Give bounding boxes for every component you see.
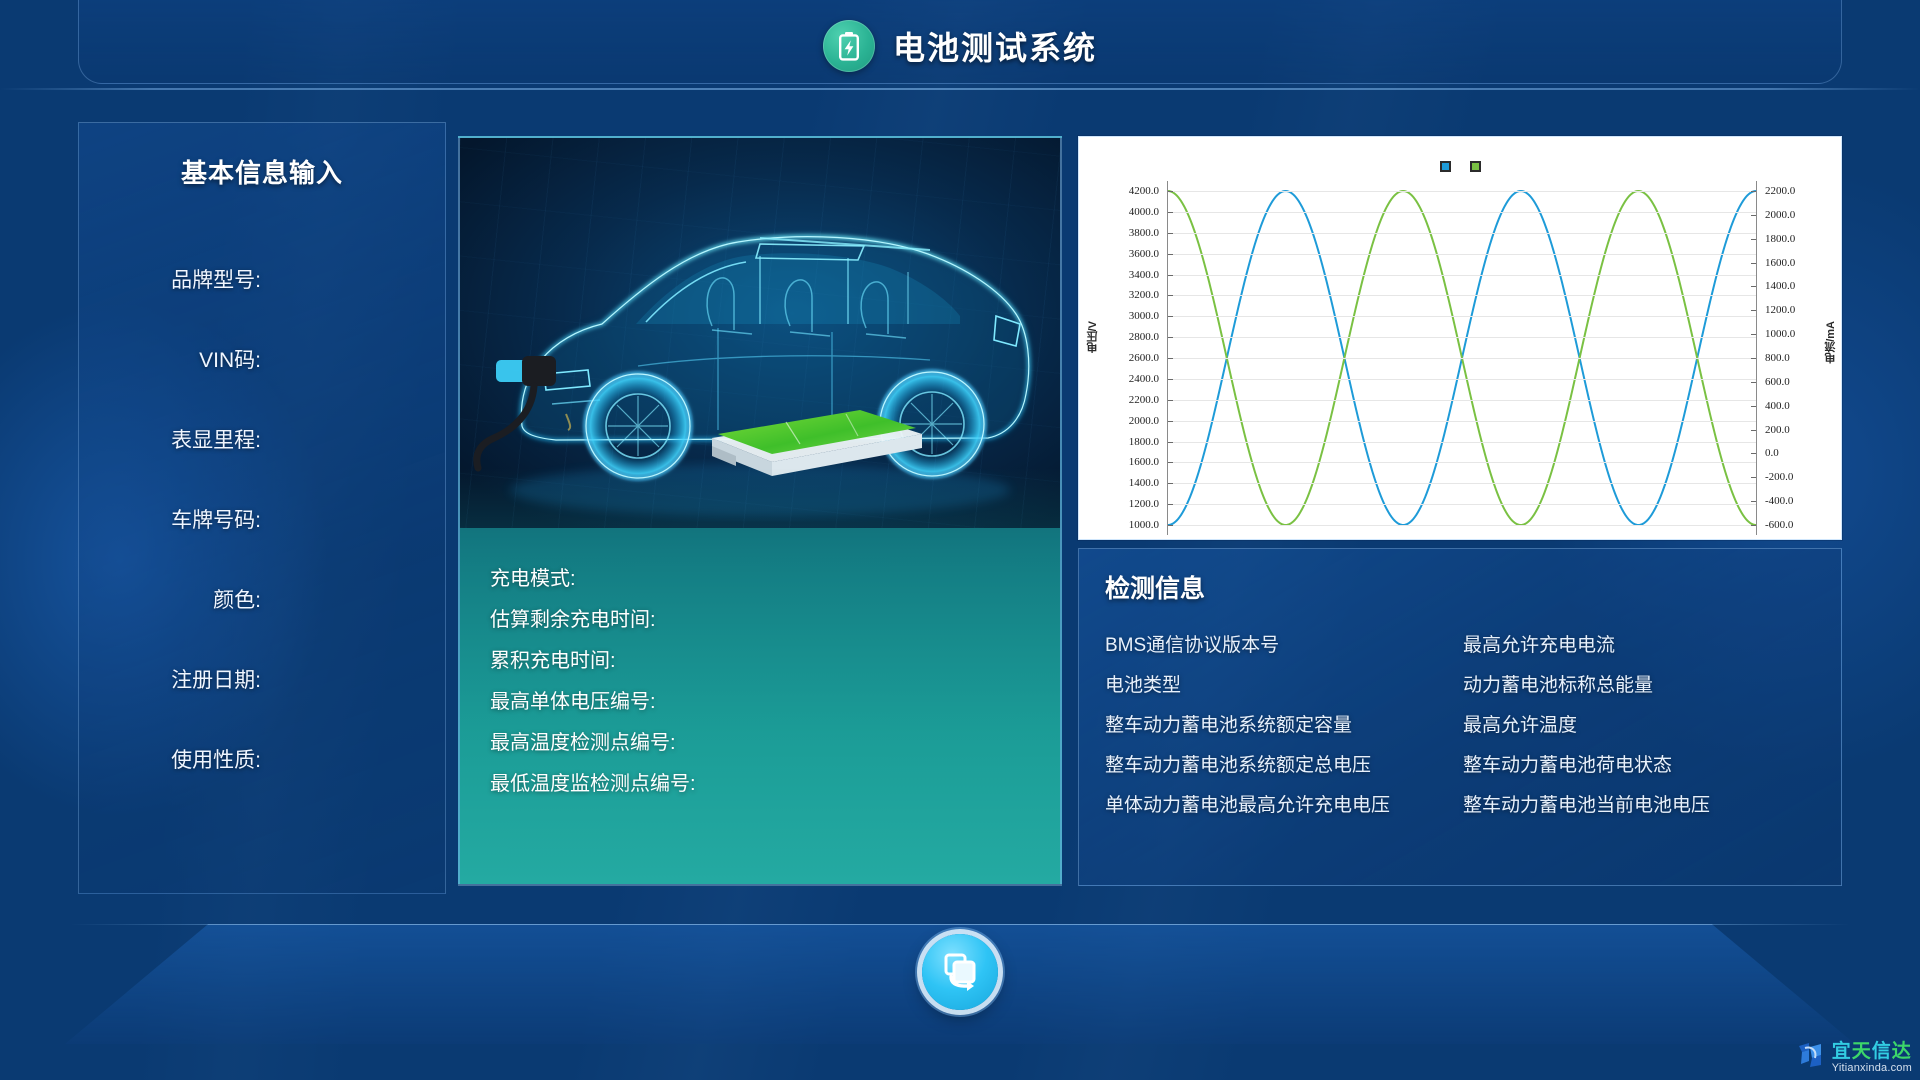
charging-field-list: 充电模式: 估算剩余充电时间: 累积充电时间: 最高单体电压编号: 最高温度检测… xyxy=(490,556,1050,802)
axis-tick-label: 2200.0 xyxy=(1765,185,1795,197)
basic-info-panel: 基本信息输入 品牌型号: VIN码: 表显里程: 车牌号码: 颜色: xyxy=(78,122,446,894)
chart-tickmark xyxy=(1168,212,1173,213)
chart-tickmark xyxy=(1751,358,1756,359)
field-row-mileage: 表显里程: xyxy=(79,399,445,479)
chart-tickmark xyxy=(1168,525,1173,526)
page-title: 电池测试系统 xyxy=(893,23,1097,69)
axis-tick-label: 1000.0 xyxy=(1129,519,1159,531)
charging-info-section: 充电模式: 估算剩余充电时间: 累积充电时间: 最高单体电压编号: 最高温度检测… xyxy=(460,468,1062,886)
chart-tickmark xyxy=(1168,254,1173,255)
axis-tick-label: 2600.0 xyxy=(1129,352,1159,364)
detection-info-panel: 检测信息 BMS通信协议版本号 电池类型 整车动力蓄电池系统额定容量 整车动力蓄… xyxy=(1078,548,1842,886)
axis-tick-label: -600.0 xyxy=(1765,519,1793,531)
axis-tick-label: 4000.0 xyxy=(1129,206,1159,218)
chart-tickmark xyxy=(1751,406,1756,407)
header-divider xyxy=(0,88,1920,90)
y-axis-ticks-left: 4200.04000.03800.03600.03400.03200.03000… xyxy=(1105,181,1163,535)
chart-tickmark xyxy=(1168,358,1173,359)
axis-tick-label: 3400.0 xyxy=(1129,269,1159,281)
yitianxinda-logo-icon xyxy=(1796,1041,1826,1074)
chart-tickmark xyxy=(1168,483,1173,484)
watermark: 宜天信达 Yitianxinda.com xyxy=(1796,1041,1912,1074)
main-stage: 基本信息输入 品牌型号: VIN码: 表显里程: 车牌号码: 颜色: xyxy=(0,92,1920,902)
axis-tick-label: 3800.0 xyxy=(1129,227,1159,239)
axis-tick-label: 3000.0 xyxy=(1129,310,1159,322)
chart-gridline xyxy=(1168,233,1756,234)
chart-gridline xyxy=(1168,316,1756,317)
sidebar-title: 基本信息输入 xyxy=(79,153,445,190)
chart-gridline xyxy=(1168,295,1756,296)
detection-item-current-battery-voltage: 整车动力蓄电池当前电池电压 xyxy=(1463,783,1821,823)
chart-gridline xyxy=(1168,337,1756,338)
label-cumulative-charge-time: 累积充电时间: xyxy=(490,644,616,673)
chart-tickmark xyxy=(1751,430,1756,431)
duplicate-refresh-button[interactable] xyxy=(922,934,998,1010)
chart-gridline xyxy=(1168,400,1756,401)
field-row-max-cell-voltage-number: 最高单体电压编号: xyxy=(490,679,1050,720)
chart-gridline xyxy=(1168,254,1756,255)
chart-tickmark xyxy=(1168,295,1173,296)
chart-tickmark xyxy=(1751,477,1756,478)
chart-tickmark xyxy=(1751,334,1756,335)
axis-tick-label: 800.0 xyxy=(1765,352,1790,364)
y-axis-title-left: 电压/V xyxy=(1085,321,1101,353)
axis-tick-label: 600.0 xyxy=(1765,376,1790,388)
label-vin: VIN码: xyxy=(199,344,261,374)
detection-item-cell-max-charge-voltage: 单体动力蓄电池最高允许充电电压 xyxy=(1105,783,1463,823)
axis-tick-label: 2800.0 xyxy=(1129,331,1159,343)
chart-tickmark xyxy=(1168,421,1173,422)
chart-tickmark xyxy=(1168,504,1173,505)
y-axis-title-right: 电流/mA xyxy=(1823,321,1839,364)
axis-tick-label: 2200.0 xyxy=(1129,394,1159,406)
watermark-en-text: Yitianxinda.com xyxy=(1832,1063,1912,1074)
chart-gridline xyxy=(1168,275,1756,276)
field-row-plate-number: 车牌号码: xyxy=(79,479,445,559)
deck-divider xyxy=(70,924,1850,925)
label-max-cell-voltage-number: 最高单体电压编号: xyxy=(490,685,656,714)
chart-tickmark xyxy=(1168,379,1173,380)
field-row-brand-model: 品牌型号: xyxy=(79,239,445,319)
detection-item-state-of-charge: 整车动力蓄电池荷电状态 xyxy=(1463,743,1821,783)
chart-legend xyxy=(1079,161,1841,172)
axis-tick-label: 1800.0 xyxy=(1765,233,1795,245)
chart-gridline xyxy=(1168,379,1756,380)
detection-item-rated-total-voltage: 整车动力蓄电池系统额定总电压 xyxy=(1105,743,1463,783)
chart-tickmark xyxy=(1168,275,1173,276)
chart-tickmark xyxy=(1168,442,1173,443)
axis-tick-label: 4200.0 xyxy=(1129,185,1159,197)
axis-tick-label: 2400.0 xyxy=(1129,373,1159,385)
chart-tickmark xyxy=(1751,501,1756,502)
field-row-estimated-remaining-charge-time: 估算剩余充电时间: xyxy=(490,597,1050,638)
axis-tick-label: 2000.0 xyxy=(1765,209,1795,221)
right-column: 电压/V 电流/mA 4200.04000.03800.03600.03400.… xyxy=(1078,136,1842,886)
field-row-charge-mode: 充电模式: xyxy=(490,556,1050,597)
detection-item-max-allowed-temperature: 最高允许温度 xyxy=(1463,703,1821,743)
axis-tick-label: 3600.0 xyxy=(1129,248,1159,260)
label-min-temp-probe-number: 最低温度监检测点编号: xyxy=(490,767,696,796)
label-charge-mode: 充电模式: xyxy=(490,562,576,591)
chart-gridline xyxy=(1168,191,1756,192)
chart-gridline xyxy=(1168,442,1756,443)
watermark-cn-text: 宜天信达 xyxy=(1832,1042,1912,1061)
detection-right-column: 最高允许充电电流 动力蓄电池标称总能量 最高允许温度 整车动力蓄电池荷电状态 整… xyxy=(1463,623,1821,823)
label-estimated-remaining-charge-time: 估算剩余充电时间: xyxy=(490,603,656,632)
app-header: 电池测试系统 xyxy=(0,0,1920,92)
chart-tickmark xyxy=(1168,233,1173,234)
chart-tickmark xyxy=(1168,400,1173,401)
chart-gridline xyxy=(1168,504,1756,505)
watermark-char-4: 达 xyxy=(1892,1041,1912,1062)
axis-tick-label: 0.0 xyxy=(1765,447,1779,459)
field-row-register-date: 注册日期: xyxy=(79,639,445,719)
duplicate-refresh-icon xyxy=(939,949,981,996)
label-mileage: 表显里程: xyxy=(171,424,261,454)
chart-tickmark xyxy=(1751,191,1756,192)
field-row-cumulative-charge-time: 累积充电时间: xyxy=(490,638,1050,679)
detection-item-rated-capacity: 整车动力蓄电池系统额定容量 xyxy=(1105,703,1463,743)
chart-plot-area: 电压/V 电流/mA 4200.04000.03800.03600.03400.… xyxy=(1079,181,1843,535)
chart-tickmark xyxy=(1751,382,1756,383)
chart-tickmark xyxy=(1168,337,1173,338)
axis-tick-label: 1200.0 xyxy=(1129,498,1159,510)
field-row-color: 颜色: xyxy=(79,559,445,639)
chart-tickmark xyxy=(1751,453,1756,454)
field-row-min-temp-probe-number: 最低温度监检测点编号: xyxy=(490,761,1050,802)
axis-tick-label: 1200.0 xyxy=(1765,304,1795,316)
detection-item-battery-type: 电池类型 xyxy=(1105,663,1463,703)
chart-tickmark xyxy=(1168,316,1173,317)
axis-tick-label: 1000.0 xyxy=(1765,328,1795,340)
label-max-temp-probe-number: 最高温度检测点编号: xyxy=(490,726,676,755)
chart-tickmark xyxy=(1168,462,1173,463)
chart-tickmark xyxy=(1751,525,1756,526)
chart-tickmark xyxy=(1751,286,1756,287)
label-register-date: 注册日期: xyxy=(171,664,261,694)
legend-swatch-current[interactable] xyxy=(1470,161,1481,172)
chart-tickmark xyxy=(1751,263,1756,264)
chart-canvas xyxy=(1167,181,1757,535)
watermark-char-3: 信 xyxy=(1872,1041,1892,1062)
chart-gridline xyxy=(1168,525,1756,526)
chart-tickmark xyxy=(1751,239,1756,240)
detection-item-nominal-total-energy: 动力蓄电池标称总能量 xyxy=(1463,663,1821,703)
axis-tick-label: 1600.0 xyxy=(1765,257,1795,269)
chart-tickmark xyxy=(1168,191,1173,192)
chart-gridline xyxy=(1168,483,1756,484)
chart-tickmark xyxy=(1751,310,1756,311)
legend-swatch-voltage[interactable] xyxy=(1440,161,1451,172)
axis-tick-label: 400.0 xyxy=(1765,400,1790,412)
chart-gridline xyxy=(1168,462,1756,463)
axis-tick-label: 2000.0 xyxy=(1129,415,1159,427)
axis-tick-label: 1800.0 xyxy=(1129,436,1159,448)
axis-tick-label: 1400.0 xyxy=(1765,280,1795,292)
label-brand-model: 品牌型号: xyxy=(171,264,261,294)
chart-gridline xyxy=(1168,212,1756,213)
axis-tick-label: -400.0 xyxy=(1765,495,1793,507)
chart-gridline xyxy=(1168,358,1756,359)
label-color: 颜色: xyxy=(213,584,261,614)
detection-item-max-charge-current: 最高允许充电电流 xyxy=(1463,623,1821,663)
detection-left-column: BMS通信协议版本号 电池类型 整车动力蓄电池系统额定容量 整车动力蓄电池系统额… xyxy=(1105,623,1463,823)
field-row-vin: VIN码: xyxy=(79,319,445,399)
y-axis-ticks-right: 2200.02000.01800.01600.01400.01200.01000… xyxy=(1759,181,1817,535)
battery-bolt-icon xyxy=(823,20,875,72)
watermark-char-1: 宜 xyxy=(1832,1041,1852,1062)
field-row-usage-type: 使用性质: xyxy=(79,719,445,799)
label-usage-type: 使用性质: xyxy=(171,744,261,774)
basic-info-field-list: 品牌型号: VIN码: 表显里程: 车牌号码: 颜色: 注册日期: xyxy=(79,239,445,799)
field-row-max-temp-probe-number: 最高温度检测点编号: xyxy=(490,720,1050,761)
axis-tick-label: 200.0 xyxy=(1765,424,1790,436)
watermark-char-2: 天 xyxy=(1852,1041,1872,1062)
voltage-current-chart: 电压/V 电流/mA 4200.04000.03800.03600.03400.… xyxy=(1078,136,1842,540)
vehicle-status-panel: 充电模式: 估算剩余充电时间: 累积充电时间: 最高单体电压编号: 最高温度检测… xyxy=(458,136,1062,886)
axis-tick-label: 3200.0 xyxy=(1129,289,1159,301)
detection-info-title: 检测信息 xyxy=(1105,569,1205,605)
chart-tickmark xyxy=(1751,215,1756,216)
chart-gridline xyxy=(1168,421,1756,422)
axis-tick-label: 1400.0 xyxy=(1129,477,1159,489)
axis-tick-label: 1600.0 xyxy=(1129,456,1159,468)
detection-item-bms-protocol-version: BMS通信协议版本号 xyxy=(1105,623,1463,663)
axis-tick-label: -200.0 xyxy=(1765,471,1793,483)
label-plate-number: 车牌号码: xyxy=(171,504,261,534)
